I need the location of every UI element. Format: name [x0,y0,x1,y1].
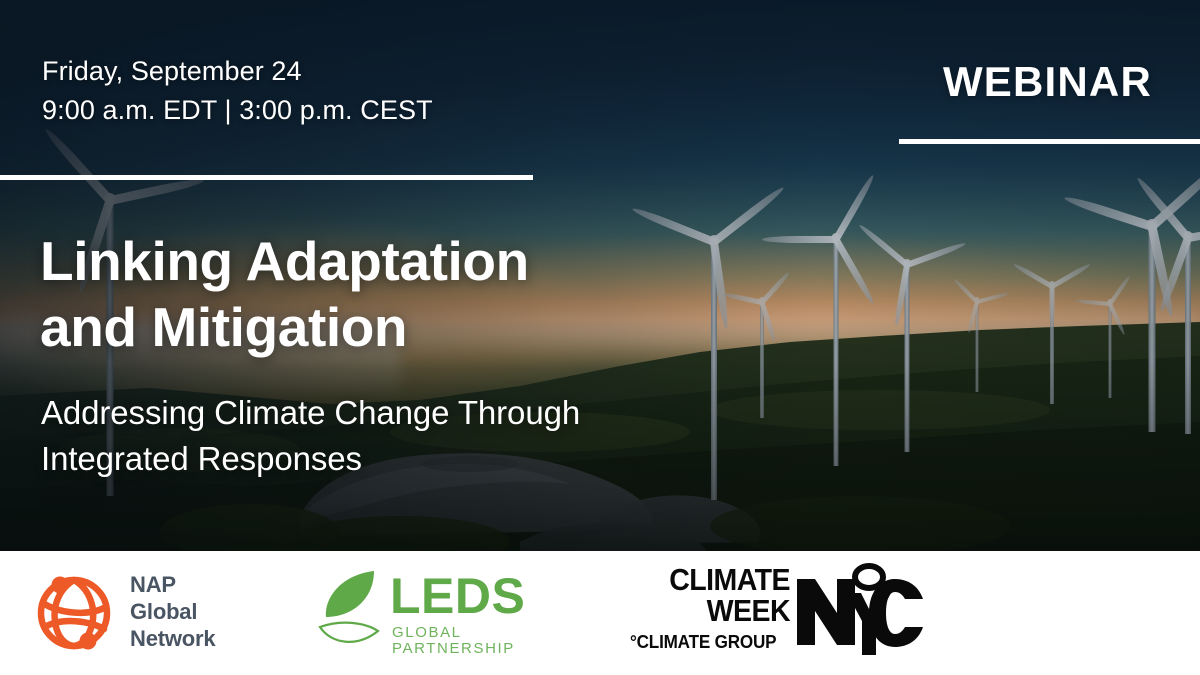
date-divider-rule [0,175,533,180]
climate-week-line-2: WEEK [643,595,790,626]
logo-leds-global-partnership: LEDS GLOBAL PARTNERSHIP [312,563,572,663]
webinar-badge-label: WEBINAR [943,58,1152,106]
nyc-lettermark-icon [795,563,925,659]
nap-line-2: Global [130,598,215,625]
title-line-2: and Mitigation [40,294,529,360]
event-time: 9:00 a.m. EDT | 3:00 p.m. CEST [42,91,433,130]
page-subtitle: Addressing Climate Change Through Integr… [41,390,580,482]
logo-climate-week-nyc: CLIMATE WEEK °CLIMATE GROUP [630,561,930,666]
webinar-divider-rule [899,139,1200,144]
leds-tagline: GLOBAL PARTNERSHIP [392,625,572,657]
webinar-promo-poster: Friday, September 24 9:00 a.m. EDT | 3:0… [0,0,1200,675]
nap-wordmark: NAP Global Network [130,571,215,652]
subtitle-line-1: Addressing Climate Change Through [41,390,580,436]
title-line-1: Linking Adaptation [40,228,529,294]
webinar-badge: WEBINAR [943,58,1152,106]
leds-wordmark: LEDS [390,571,525,621]
nap-line-3: Network [130,625,215,652]
event-datetime: Friday, September 24 9:00 a.m. EDT | 3:0… [42,52,433,130]
climate-week-wordmark: CLIMATE WEEK [643,564,790,626]
climate-group-attribution: °CLIMATE GROUP [630,633,776,652]
nap-line-1: NAP [130,571,215,598]
logo-footer-bar: NAP Global Network LEDS GLOBAL PARTNERSH… [0,551,1200,675]
globe-network-icon [32,571,116,655]
logo-nap-global-network: NAP Global Network [32,563,282,663]
event-date: Friday, September 24 [42,52,433,91]
poster-content: Friday, September 24 9:00 a.m. EDT | 3:0… [0,0,1200,551]
climate-week-line-1: CLIMATE [643,564,790,595]
subtitle-line-2: Integrated Responses [41,436,580,482]
leaf-pair-icon [312,569,388,655]
page-title: Linking Adaptation and Mitigation [40,228,529,360]
